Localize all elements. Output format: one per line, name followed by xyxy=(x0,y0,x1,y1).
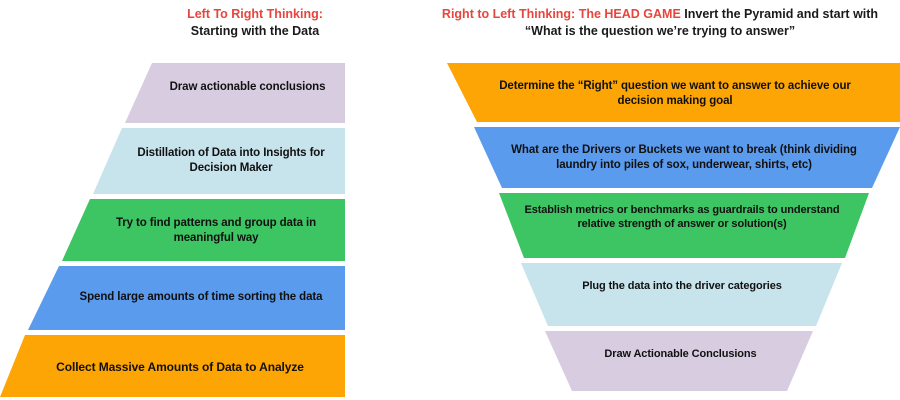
slide-canvas: Left To Right Thinking: Starting with th… xyxy=(0,0,900,400)
right-layer-2-shape xyxy=(474,127,900,188)
right-layer-5-shape xyxy=(545,331,813,391)
right-layer-4-shape xyxy=(521,263,842,326)
right-layer-1-shape xyxy=(447,63,900,122)
right-funnel-shapes xyxy=(0,0,900,400)
right-layer-3-shape xyxy=(499,193,869,258)
